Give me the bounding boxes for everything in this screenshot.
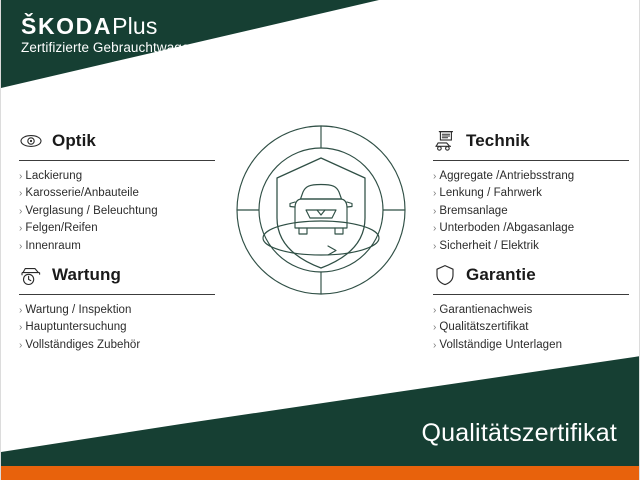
list-item-label: Hauptuntersuchung: [25, 321, 126, 333]
list-item: ›Lenkung / Fahrwerk: [433, 185, 629, 202]
shield-icon: [433, 263, 457, 287]
section-divider: [19, 160, 215, 161]
chevron-icon: ›: [433, 171, 436, 182]
list-item-label: Lenkung / Fahrwerk: [439, 187, 542, 199]
footer-green-banner: [1, 356, 640, 466]
chevron-icon: ›: [433, 241, 436, 252]
section-technik: Technik ›Aggregate /Antriebsstrang ›Lenk…: [433, 128, 629, 255]
list-item: ›Garantienachweis: [433, 302, 629, 319]
section-header: Wartung: [19, 262, 215, 288]
eye-icon: [19, 129, 43, 153]
list-item-label: Vollständige Unterlagen: [439, 339, 562, 351]
chevron-icon: ›: [19, 322, 22, 333]
list-item-label: Qualitätszertifikat: [439, 321, 528, 333]
list-item: ›Karosserie/Anbauteile: [19, 185, 215, 202]
section-title: Technik: [466, 131, 530, 151]
list-item: ›Bremsanlage: [433, 203, 629, 220]
brand-logo-primary: ŠKODAPlus: [21, 14, 197, 38]
section-divider: [433, 294, 629, 295]
chevron-icon: ›: [19, 171, 22, 182]
list-item: ›Wartung / Inspektion: [19, 302, 215, 319]
section-header: Garantie: [433, 262, 629, 288]
brand-suffix: Plus: [112, 13, 158, 39]
list-item-label: Bremsanlage: [439, 205, 507, 217]
chevron-icon: ›: [433, 340, 436, 351]
brand-logo: ŠKODAPlus Zertifizierte Gebrauchtwagen: [21, 14, 197, 55]
chevron-icon: ›: [19, 305, 22, 316]
section-wartung: Wartung ›Wartung / Inspektion ›Hauptunte…: [19, 262, 215, 354]
section-list: ›Aggregate /Antriebsstrang ›Lenkung / Fa…: [433, 168, 629, 255]
section-divider: [433, 160, 629, 161]
chevron-icon: ›: [19, 241, 22, 252]
list-item-label: Felgen/Reifen: [25, 222, 97, 234]
chevron-icon: ›: [19, 188, 22, 199]
list-item: ›Unterboden /Abgasanlage: [433, 220, 629, 237]
footer-orange-strip: [1, 466, 640, 480]
brand-name: ŠKODA: [21, 13, 112, 39]
engine-car-icon: [433, 129, 457, 153]
chevron-icon: ›: [433, 206, 436, 217]
chevron-icon: ›: [19, 223, 22, 234]
list-item: ›Felgen/Reifen: [19, 220, 215, 237]
certified-vehicle-shield-icon: [233, 122, 409, 298]
list-item: ›Aggregate /Antriebsstrang: [433, 168, 629, 185]
list-item: ›Vollständige Unterlagen: [433, 337, 629, 354]
list-item: ›Innenraum: [19, 238, 215, 255]
list-item-label: Lackierung: [25, 170, 82, 182]
footer-title: Qualitätszertifikat: [421, 419, 617, 448]
list-item-label: Karosserie/Anbauteile: [25, 187, 139, 199]
section-header: Optik: [19, 128, 215, 154]
section-header: Technik: [433, 128, 629, 154]
list-item-label: Vollständiges Zubehör: [25, 339, 140, 351]
section-list: ›Garantienachweis ›Qualitätszertifikat ›…: [433, 302, 629, 354]
chevron-icon: ›: [433, 223, 436, 234]
list-item: ›Lackierung: [19, 168, 215, 185]
section-list: ›Wartung / Inspektion ›Hauptuntersuchung…: [19, 302, 215, 354]
list-item: ›Verglasung / Beleuchtung: [19, 203, 215, 220]
list-item-label: Aggregate /Antriebsstrang: [439, 170, 574, 182]
section-optik: Optik ›Lackierung ›Karosserie/Anbauteile…: [19, 128, 215, 255]
section-garantie: Garantie ›Garantienachweis ›Qualitätszer…: [433, 262, 629, 354]
list-item-label: Wartung / Inspektion: [25, 304, 131, 316]
section-title: Optik: [52, 131, 96, 151]
section-list: ›Lackierung ›Karosserie/Anbauteile ›Verg…: [19, 168, 215, 255]
chevron-icon: ›: [433, 305, 436, 316]
brand-tagline: Zertifizierte Gebrauchtwagen: [21, 40, 197, 55]
chevron-icon: ›: [433, 322, 436, 333]
chevron-icon: ›: [19, 206, 22, 217]
car-clock-icon: [19, 263, 43, 287]
section-title: Wartung: [52, 265, 121, 285]
list-item-label: Garantienachweis: [439, 304, 532, 316]
list-item: ›Hauptuntersuchung: [19, 319, 215, 336]
list-item-label: Sicherheit / Elektrik: [439, 240, 538, 252]
chevron-icon: ›: [433, 188, 436, 199]
list-item: ›Sicherheit / Elektrik: [433, 238, 629, 255]
chevron-icon: ›: [19, 340, 22, 351]
list-item-label: Verglasung / Beleuchtung: [25, 205, 157, 217]
list-item: ›Qualitätszertifikat: [433, 319, 629, 336]
certificate-page: ŠKODAPlus Zertifizierte Gebrauchtwagen O…: [0, 0, 640, 480]
list-item: ›Vollständiges Zubehör: [19, 337, 215, 354]
list-item-label: Innenraum: [25, 240, 80, 252]
section-divider: [19, 294, 215, 295]
section-title: Garantie: [466, 265, 536, 285]
list-item-label: Unterboden /Abgasanlage: [439, 222, 574, 234]
